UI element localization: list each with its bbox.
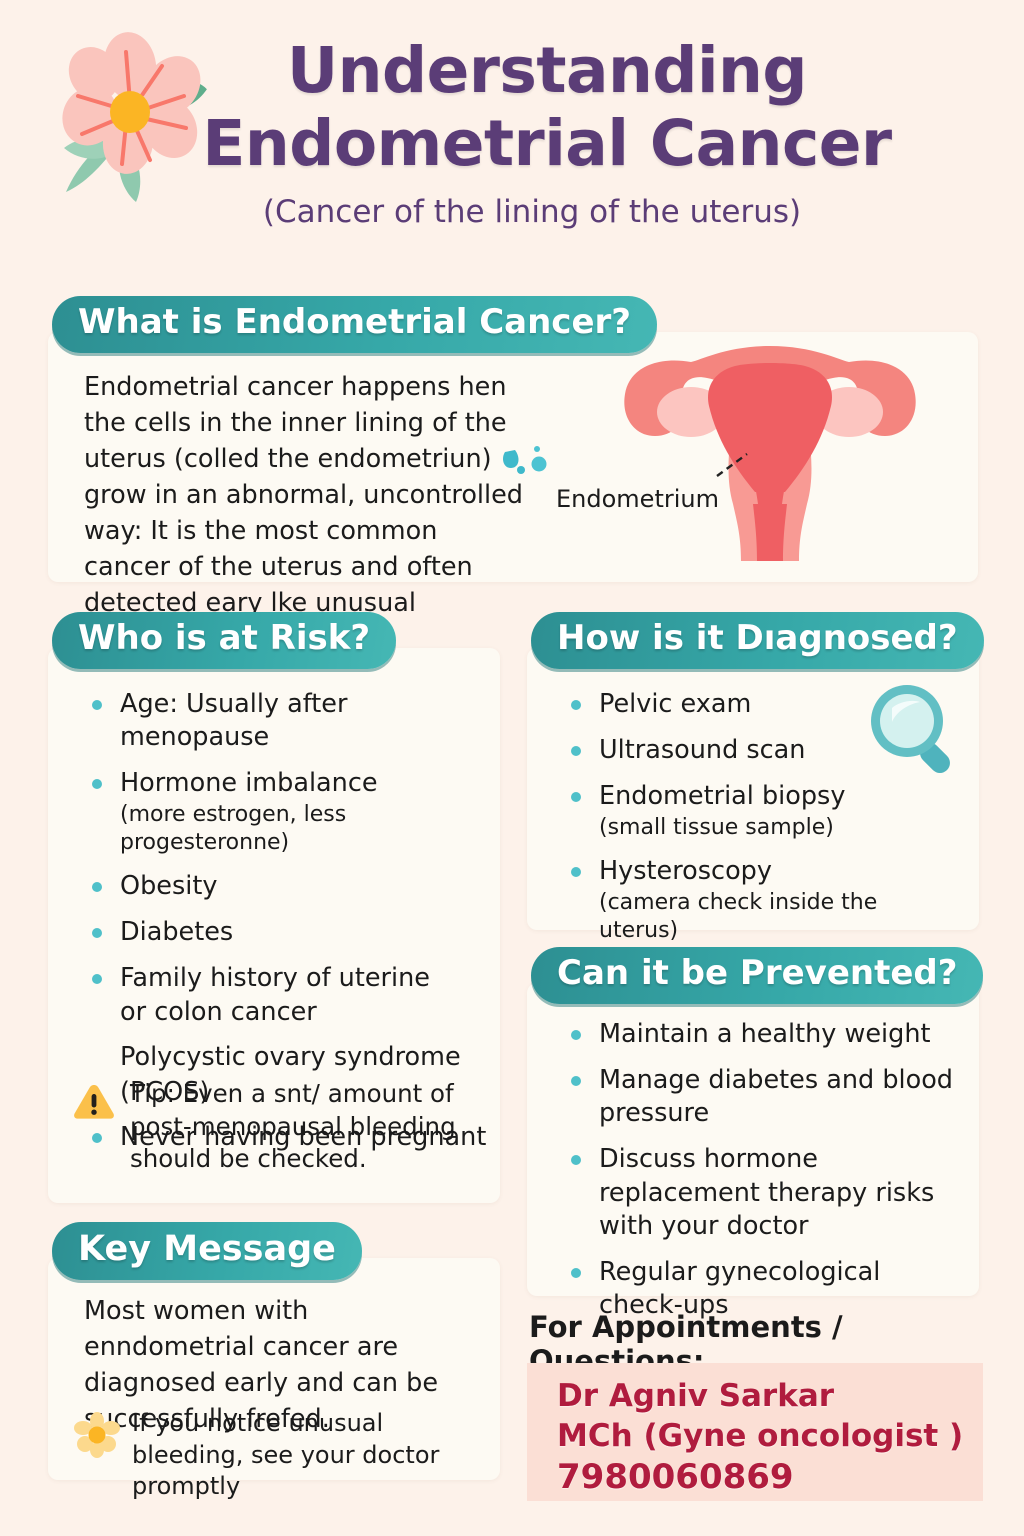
bullet-dot-icon [571, 1076, 581, 1086]
list-item-subtext: or colon cancer [120, 996, 494, 1028]
list-item: Age: Usually after menopause [84, 688, 494, 754]
list-item-text: Hormone imbalance [120, 768, 378, 798]
flower-icon [38, 24, 218, 224]
list-item-subtext: (camera check inside the uterus) [599, 889, 963, 944]
list-item: Maintain a healthy weight [563, 1018, 963, 1051]
list-item: Discuss hormone replacement therapy risk… [563, 1143, 963, 1242]
list-item-text: Family history of uterine [120, 963, 430, 993]
section-key-message-heading: Key Message [52, 1222, 362, 1280]
list-item-text: Obesity [120, 871, 217, 901]
list-item-text: Pelvic exam [599, 689, 751, 719]
list-item: Hysteroscopy(camera check inside the ute… [563, 855, 963, 945]
prevention-heading-label: Can it be Prevented? [531, 947, 983, 1004]
list-item-subtext: (small tissue sample) [599, 814, 963, 842]
key-message-heading-label: Key Message [52, 1222, 362, 1280]
list-item-text: Ultrasound scan [599, 735, 805, 765]
list-item-text: Polycystic ovary syndrome [120, 1042, 461, 1072]
diagnosis-list: Pelvic exam Ultrasound scan Endometrial … [563, 688, 963, 958]
section-risk-heading: Who is at Risk? [52, 612, 396, 669]
doctor-qualification: MCh (Gyne oncologist ) [527, 1417, 983, 1457]
list-item: Family history of uterineor colon cancer [84, 962, 494, 1028]
header: Understanding Endometrial Cancer (Cancer… [0, 0, 1024, 230]
list-item: Ultrasound scan [563, 734, 963, 767]
list-item: Obesity [84, 870, 494, 903]
section-diagnosed-heading: How is it Dıagnosed? [531, 612, 984, 669]
warning-triangle-icon [72, 1078, 116, 1176]
prevention-list: Maintain a healthy weight Manage diabete… [563, 1018, 963, 1335]
bullet-dot-icon [571, 1030, 581, 1040]
bullet-dot-icon [92, 882, 102, 892]
teal-splash-icon [499, 440, 551, 486]
list-item-text: Discuss hormone replacement therapy risk… [599, 1144, 934, 1240]
uterus-diagram [585, 336, 955, 571]
what-is-heading-label: What is Endometrial Cancer? [52, 296, 657, 353]
list-item-text: Diabetes [120, 917, 233, 947]
doctor-name: Dr Agniv Sarkar [527, 1363, 983, 1417]
list-item: Diabetes [84, 916, 494, 949]
list-item: Hormone imbalance(more estrogen, less pr… [84, 767, 494, 857]
section-what-is-heading: What is Endometrial Cancer? [52, 296, 657, 353]
bullet-dot-icon [571, 1155, 581, 1165]
bullet-dot-icon [571, 1268, 581, 1278]
bullet-dot-icon [571, 867, 581, 877]
list-item-subtext: (more estrogen, less progesteronne) [120, 801, 494, 856]
title-line-1: Understanding [287, 34, 807, 107]
list-item-text: Manage diabetes and blood pressure [599, 1065, 953, 1128]
section-prevention-heading: Can it be Prevented? [531, 947, 983, 1004]
list-item-text: Endometrial biopsy [599, 781, 845, 811]
list-item-text: Maintain a healthy weight [599, 1019, 930, 1049]
list-item-text: Age: Usually after menopause [120, 689, 347, 752]
diagnosed-heading-label: How is it Dıagnosed? [531, 612, 984, 669]
risk-heading-label: Who is at Risk? [52, 612, 396, 669]
bullet-dot-icon [92, 779, 102, 789]
list-item: Endometrial biopsy(small tissue sample) [563, 780, 963, 842]
bullet-dot-icon [571, 746, 581, 756]
risk-tip: Tip: Even a snt/ amount of post-menopaus… [72, 1078, 492, 1176]
contact-card: Dr Agniv Sarkar MCh (Gyne oncologist ) 7… [527, 1363, 983, 1501]
infographic-page: Understanding Endometrial Cancer (Cancer… [0, 0, 1024, 1536]
key-message-note: If you notice unusual bleeding, see your… [74, 1408, 494, 1503]
endometrium-label: Endometrium [556, 485, 719, 513]
bullet-dot-icon [92, 700, 102, 710]
risk-tip-text: Tip: Even a snt/ amount of post-menopaus… [130, 1078, 492, 1176]
contact-phone[interactable]: 7980060869 [527, 1456, 983, 1500]
bullet-dot-icon [92, 928, 102, 938]
list-item: Manage diabetes and blood pressure [563, 1064, 963, 1130]
bullet-dot-icon [571, 700, 581, 710]
list-item-text: Hysteroscopy [599, 856, 772, 886]
key-message-note-text: If you notice unusual bleeding, see your… [132, 1408, 494, 1503]
list-item: Pelvic exam [563, 688, 963, 721]
flower-icon [74, 1408, 120, 1503]
bullet-dot-icon [571, 792, 581, 802]
bullet-dot-icon [92, 974, 102, 984]
